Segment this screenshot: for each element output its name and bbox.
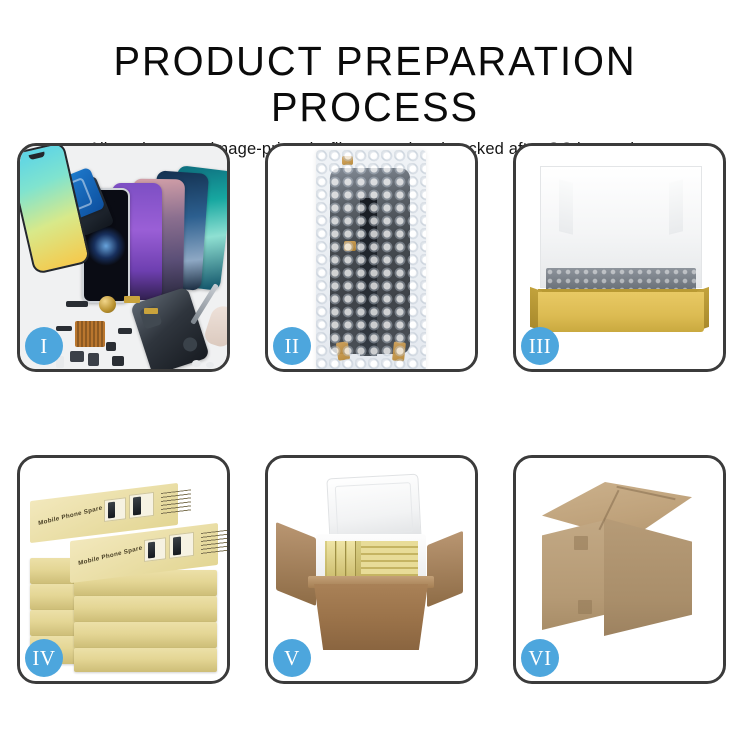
carton-flap-left: [276, 522, 316, 606]
box-stack: Mobile Phone Spare Parts Mobile Phone Sp…: [28, 474, 225, 670]
box-label-spec-lines: [201, 529, 227, 555]
page-title: PRODUCT PREPARATION PROCESS: [11, 0, 739, 130]
step-badge-2: II: [273, 327, 311, 365]
step-badge-4: IV: [25, 639, 63, 677]
box-flap-right: [669, 179, 683, 234]
wrapped-flex-strip: [360, 198, 377, 356]
box-label-window: [169, 532, 194, 559]
process-step-2: II: [265, 143, 478, 372]
spare-part: [206, 362, 214, 368]
box-label-window: [129, 492, 154, 519]
step-badge-5: V: [273, 639, 311, 677]
kraft-box-front: [538, 292, 704, 332]
bubble-wrap-contents: [316, 150, 426, 369]
process-step-3: III: [513, 143, 726, 372]
step-6-image: VI: [516, 458, 723, 681]
spare-part: [66, 301, 88, 307]
box-flap-left: [559, 179, 573, 234]
spare-part: [192, 360, 201, 367]
process-step-6: VI: [513, 455, 726, 684]
step-3-image: III: [516, 146, 723, 369]
carton-front: [314, 584, 428, 650]
spare-part: [106, 342, 116, 351]
step-badge-1: I: [25, 327, 63, 365]
step-5-image: V: [268, 458, 475, 681]
spare-part: [144, 308, 158, 314]
page-header: PRODUCT PREPARATION PROCESS All products…: [0, 0, 750, 159]
step-2-image: II: [268, 146, 475, 369]
box-label-window: [144, 537, 166, 562]
tape-piece: [344, 241, 356, 251]
box-label-spec-lines: [161, 489, 191, 515]
stacked-box: [74, 622, 217, 648]
tape-piece: [342, 156, 353, 165]
carton-tape-tab: [574, 536, 588, 550]
box-label-window: [104, 497, 126, 522]
tape-piece: [336, 341, 350, 360]
stacked-box: [74, 596, 217, 622]
spare-part: [70, 351, 84, 362]
step-badge-3: III: [521, 327, 559, 365]
process-step-4: Mobile Phone Spare Parts Mobile Phone Sp…: [17, 455, 230, 684]
step-1-image: I: [20, 146, 227, 369]
step-badge-6: VI: [521, 639, 559, 677]
carton-flap-right: [427, 531, 463, 608]
stacked-box: [74, 648, 217, 672]
spare-part: [112, 356, 124, 366]
speaker-part: [99, 296, 116, 313]
hand: [202, 303, 227, 349]
spare-part: [56, 326, 72, 331]
carton-tape-tab: [578, 600, 592, 614]
connector-array-part: [75, 321, 105, 347]
spare-part: [118, 328, 132, 334]
process-step-1: I: [17, 143, 230, 372]
process-step-5: V: [265, 455, 478, 684]
carton-right-face: [604, 518, 692, 636]
process-step-grid: I II: [17, 143, 727, 684]
spare-part: [88, 353, 99, 366]
spare-part: [124, 296, 140, 303]
tape-piece: [392, 341, 406, 361]
step-4-image: Mobile Phone Spare Parts Mobile Phone Sp…: [20, 458, 227, 681]
